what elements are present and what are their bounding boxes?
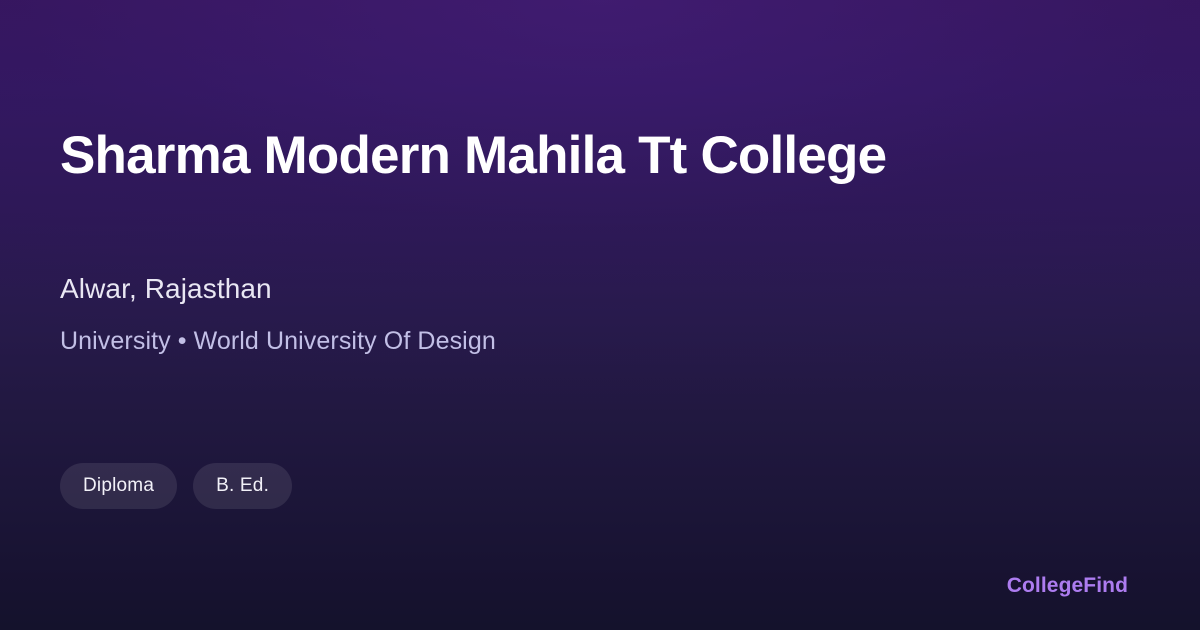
course-tag-bed[interactable]: B. Ed. [193,463,292,509]
card-content: Sharma Modern Mahila Tt College Alwar, R… [60,0,1140,630]
course-tag-list: Diploma B. Ed. [60,463,292,509]
affiliating-university: World University Of Design [194,327,496,355]
course-tag-diploma[interactable]: Diploma [60,463,177,509]
meta-separator: • [171,327,194,355]
brand-logo-text: CollegeFind [1007,574,1128,598]
page-title: Sharma Modern Mahila Tt College [60,126,1140,187]
institution-type: University [60,327,171,355]
college-location: Alwar, Rajasthan [60,271,272,307]
college-share-card: Sharma Modern Mahila Tt College Alwar, R… [0,0,1200,630]
college-meta: University•World University Of Design [60,325,496,358]
